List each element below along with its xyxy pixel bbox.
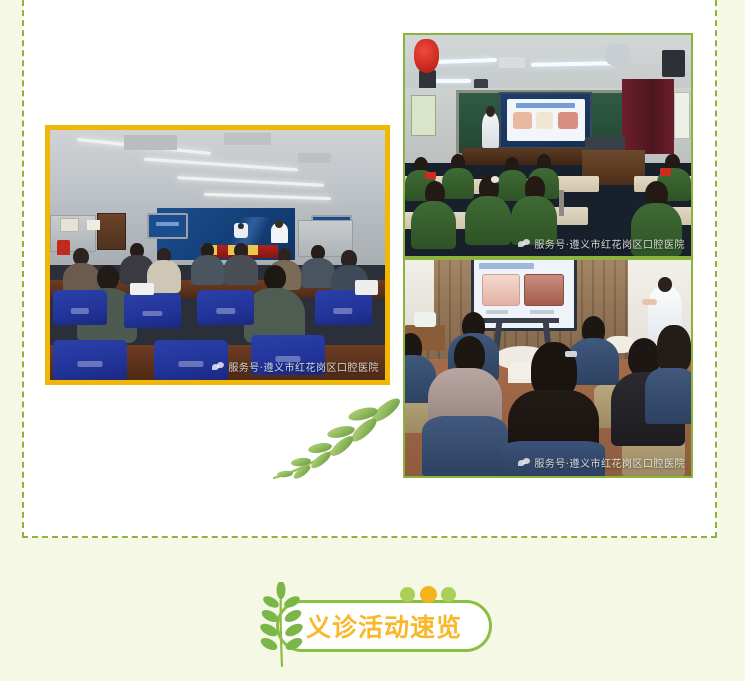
- watermark-text: 服务号·遵义市红花岗区口腔医院: [534, 236, 685, 251]
- hair-clip: [565, 351, 576, 357]
- projection-screen: [499, 92, 592, 149]
- tissue-box: [130, 283, 153, 296]
- curtain: [622, 79, 673, 154]
- podium: [462, 148, 588, 166]
- slide-image-healthy-teeth: [482, 274, 520, 306]
- wall-poster: [411, 95, 436, 137]
- chair: [197, 290, 254, 325]
- presenter-head: [275, 220, 283, 228]
- flower-vase: [414, 312, 437, 327]
- wechat-icon: [212, 362, 224, 372]
- slide-title: [479, 263, 534, 269]
- wall-notice: [87, 220, 100, 230]
- watermark: 服务号·遵义市红花岗区口腔医院: [518, 455, 685, 470]
- attendee-body: [301, 258, 335, 288]
- student-body: [497, 170, 528, 201]
- red-lantern: [414, 39, 440, 72]
- attendee-head: [264, 265, 286, 290]
- fire-extinguisher: [57, 240, 70, 255]
- chair: [124, 293, 181, 328]
- podium-speaker-person: [234, 223, 247, 238]
- ceiling-panel: [124, 135, 178, 150]
- chair: [315, 290, 372, 325]
- attendee-head: [97, 265, 119, 290]
- chair: [53, 340, 127, 380]
- photo-conference-hall[interactable]: 服务号·遵义市红花岗区口腔医院: [45, 125, 390, 385]
- ceiling-panel: [224, 133, 271, 146]
- presenter-hand: [642, 299, 656, 305]
- red-scarf: [425, 172, 436, 179]
- wall-poster: [674, 92, 690, 138]
- wechat-icon: [518, 458, 530, 468]
- presenter-body: [482, 112, 499, 147]
- ceiling-light: [531, 61, 617, 66]
- photo-conference-hall-scene: [50, 130, 385, 380]
- attendee-body: [224, 255, 258, 285]
- watermark: 服务号·遵义市红花岗区口腔医院: [518, 236, 685, 251]
- attendee-body: [191, 255, 225, 285]
- screen-stand-bar: [479, 318, 559, 322]
- desk-leg: [559, 190, 563, 217]
- watermark-text: 服务号·遵义市红花岗区口腔医院: [534, 455, 685, 470]
- student-body: [465, 196, 511, 245]
- slide-content: [507, 99, 585, 141]
- olive-branch-decoration: [268, 394, 408, 486]
- photo-classroom-dental-talk[interactable]: 服务号·遵义市红花岗区口腔医院: [403, 33, 693, 258]
- student-body: [442, 168, 473, 199]
- chair: [53, 290, 107, 325]
- table-decor: [248, 245, 258, 255]
- projector: [499, 57, 525, 68]
- attendee-body: [422, 416, 508, 476]
- stage-light: [605, 44, 631, 66]
- section-title-banner: 义诊活动速览: [248, 586, 498, 668]
- wall-notice: [60, 218, 79, 233]
- red-scarf: [660, 168, 671, 177]
- wall-speaker: [662, 50, 685, 77]
- slide-image-diseased-teeth: [524, 274, 564, 306]
- watermark-text: 服务号·遵义市红花岗区口腔医院: [228, 359, 379, 374]
- door: [97, 213, 126, 250]
- photo-lecture-room-dental-slides[interactable]: 服务号·遵义市红花岗区口腔医院: [403, 258, 693, 478]
- attendee-head: [657, 325, 691, 373]
- section-title-text: 义诊活动速览: [276, 600, 492, 652]
- wechat-icon: [518, 239, 530, 249]
- attendee-body: [645, 368, 691, 424]
- student-body: [411, 201, 457, 250]
- ceiling-panel: [298, 153, 332, 163]
- photo-classroom-scene: [405, 35, 691, 256]
- tissue-box: [355, 280, 378, 295]
- side-display-left: [147, 213, 188, 240]
- watermark: 服务号·遵义市红花岗区口腔医院: [212, 359, 379, 374]
- photo-lecture-room-scene: [405, 260, 691, 476]
